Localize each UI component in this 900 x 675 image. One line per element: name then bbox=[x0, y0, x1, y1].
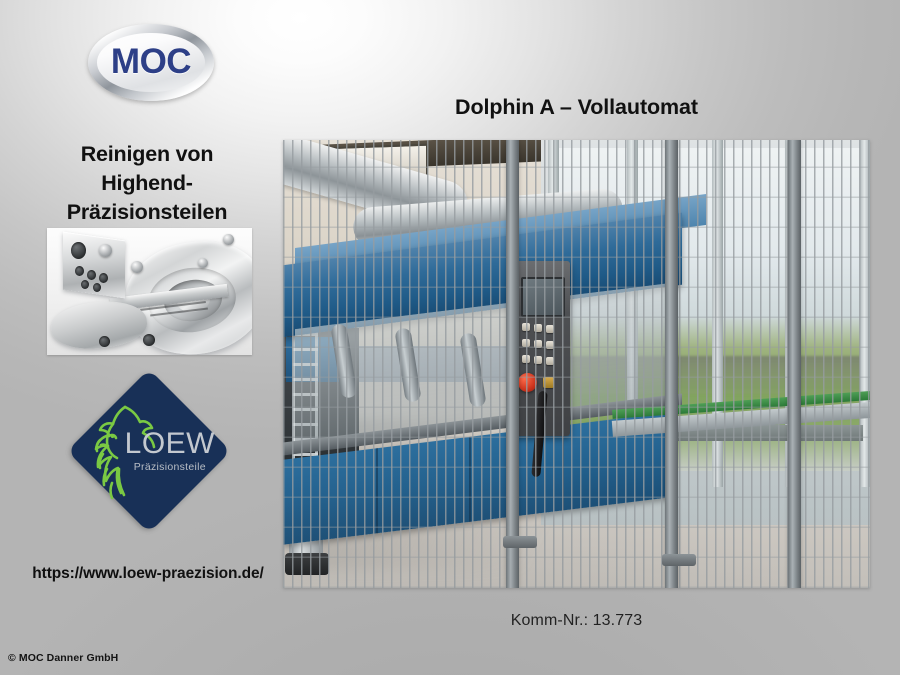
precision-parts-photo bbox=[47, 228, 252, 355]
panel-button-4[interactable] bbox=[522, 339, 530, 347]
loew-logo-wordmark: LOEW Präzisionsteile bbox=[67, 369, 231, 533]
left-headline: Reinigen von Highend- Präzisionsteilen bbox=[22, 140, 272, 227]
headline-line-1: Reinigen von bbox=[22, 140, 272, 169]
panel-button-8[interactable] bbox=[534, 356, 542, 364]
parts-bore-2 bbox=[75, 266, 84, 276]
hmi-display[interactable] bbox=[521, 277, 565, 317]
page-title: Dolphin A – Vollautomat bbox=[283, 95, 870, 120]
panel-button-6[interactable] bbox=[546, 341, 554, 349]
panel-seam-1 bbox=[376, 448, 378, 533]
fence-post-1 bbox=[506, 140, 519, 588]
copyright-footer: © MOC Danner GmbH bbox=[8, 652, 118, 664]
loew-name: LOEW bbox=[125, 429, 215, 459]
parts-bore-6 bbox=[93, 283, 101, 292]
parts-bore-7 bbox=[99, 336, 110, 347]
fence-post-2 bbox=[665, 140, 678, 588]
parts-bore-3 bbox=[87, 270, 96, 280]
fence-post-3 bbox=[788, 140, 801, 588]
panel-selector-switch[interactable] bbox=[543, 377, 554, 388]
machine-photo bbox=[283, 140, 870, 588]
panel-button-9[interactable] bbox=[546, 357, 554, 365]
parts-bolt-2 bbox=[198, 258, 208, 268]
extraction-unit-base bbox=[285, 553, 329, 575]
fence-post-foot-1 bbox=[503, 536, 537, 548]
parts-bolt-3 bbox=[223, 234, 234, 245]
parts-bolt-1 bbox=[99, 244, 112, 257]
loew-subtitle: Präzisionsteile bbox=[125, 462, 215, 473]
panel-button-3[interactable] bbox=[546, 325, 554, 333]
parts-bore-8 bbox=[143, 334, 155, 346]
panel-button-1[interactable] bbox=[522, 323, 530, 331]
headline-line-3: Präzisionsteilen bbox=[22, 198, 272, 227]
moc-logo-inner: MOC bbox=[97, 33, 204, 92]
panel-seam-2 bbox=[469, 436, 471, 521]
headline-line-2: Highend- bbox=[22, 169, 272, 198]
loew-website-url[interactable]: https://www.loew-praezision.de/ bbox=[18, 565, 278, 583]
panel-seam-3 bbox=[562, 425, 564, 510]
loew-logo: LOEW Präzisionsteile bbox=[67, 369, 231, 533]
parts-bore-4 bbox=[99, 273, 108, 283]
fence-post-foot-2 bbox=[662, 554, 696, 566]
panel-button-2[interactable] bbox=[534, 324, 542, 332]
parts-bolt-4 bbox=[131, 261, 143, 273]
presentation-slide: MOC Reinigen von Highend- Präzisionsteil… bbox=[0, 0, 900, 675]
commission-number-caption: Komm-Nr.: 13.773 bbox=[283, 612, 870, 630]
parts-bore-1 bbox=[71, 242, 86, 259]
moc-logo-text: MOC bbox=[111, 42, 191, 82]
panel-button-7[interactable] bbox=[522, 355, 530, 363]
emergency-stop-button[interactable] bbox=[518, 373, 537, 392]
parts-bore-5 bbox=[81, 280, 89, 289]
moc-logo: MOC bbox=[88, 24, 214, 101]
panel-button-5[interactable] bbox=[534, 340, 542, 348]
